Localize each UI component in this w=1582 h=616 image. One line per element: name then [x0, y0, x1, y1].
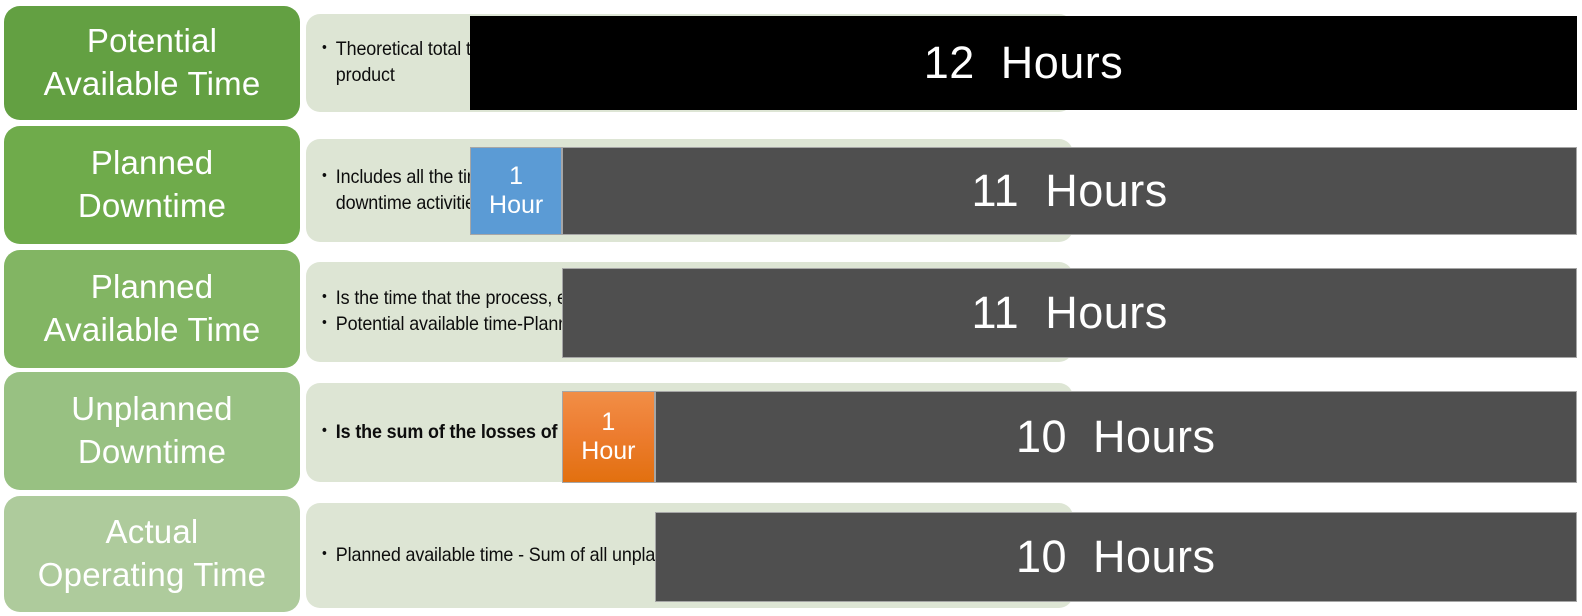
stage-label-box[interactable]: Planned Downtime [4, 126, 300, 244]
stage-label-box[interactable]: Planned Available Time [4, 250, 300, 368]
remaining-time-bar[interactable]: 11 Hours [562, 147, 1577, 235]
stage-label-text: Unplanned Downtime [12, 388, 292, 473]
bar-segment-label-line: 1 [601, 408, 615, 438]
actual-operating-time-bar[interactable]: 10 Hours [655, 512, 1578, 602]
planned-available-time-bar[interactable]: 11 Hours [562, 268, 1577, 358]
diagram-row: Potential Available TimeTheoretical tota… [0, 6, 1582, 120]
bar-value-label: 11 Hours [971, 287, 1167, 339]
stage-label-box[interactable]: Potential Available Time [4, 6, 300, 120]
bar-value-label: 12 Hours [924, 37, 1124, 89]
planned-downtime-segment[interactable]: 1Hour [470, 147, 562, 235]
stage-label-text: Planned Downtime [12, 142, 292, 227]
stage-label-box[interactable]: Actual Operating Time [4, 496, 300, 612]
time-bar: 10 Hours [655, 512, 1578, 602]
stage-label-text: Planned Available Time [12, 266, 292, 351]
diagram-row: Planned DowntimeIncludes all the time th… [0, 126, 1582, 244]
oee-time-diagram: Potential Available TimeTheoretical tota… [0, 0, 1582, 616]
diagram-row: Planned Available TimeIs the time that t… [0, 250, 1582, 368]
stage-label-text: Potential Available Time [12, 20, 292, 105]
time-bar: 1Hour11 Hours [470, 147, 1577, 235]
time-bar: 1Hour10 Hours [562, 391, 1577, 483]
diagram-row: Unplanned DowntimeIs the sum of the loss… [0, 372, 1582, 490]
bar-value-label: 10 Hours [1016, 411, 1216, 463]
stage-label-text: Actual Operating Time [12, 511, 292, 596]
bar-segment-label-line: Hour [581, 437, 635, 467]
bar-segment-label-line: 1 [509, 162, 523, 192]
time-bar: 12 Hours [470, 16, 1577, 110]
time-bar: 11 Hours [562, 268, 1577, 358]
diagram-row: Actual Operating TimePlanned available t… [0, 496, 1582, 612]
unplanned-downtime-segment[interactable]: 1Hour [562, 391, 654, 483]
bar-value-label: 10 Hours [1016, 531, 1216, 583]
bar-value-label: 11 Hours [971, 165, 1167, 217]
stage-label-box[interactable]: Unplanned Downtime [4, 372, 300, 490]
bar-segment-label-line: Hour [489, 191, 543, 221]
remaining-time-bar[interactable]: 10 Hours [655, 391, 1578, 483]
potential-available-time-bar[interactable]: 12 Hours [470, 16, 1577, 110]
